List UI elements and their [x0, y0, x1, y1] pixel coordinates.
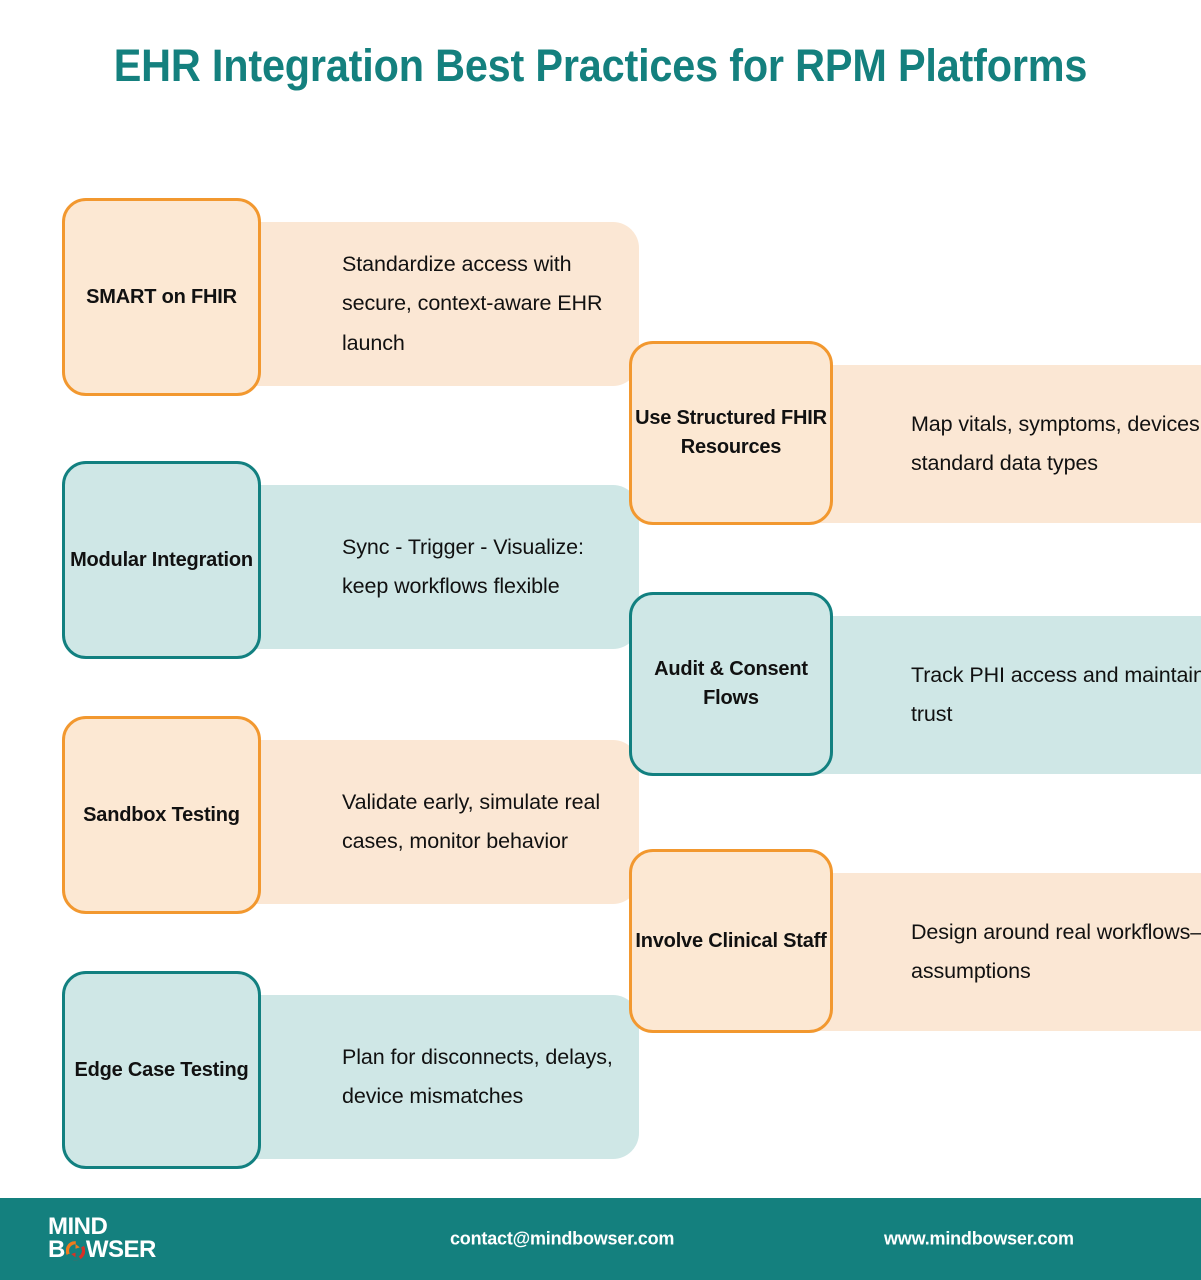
- card-description: Track PHI access and maintain user trust: [911, 656, 1201, 734]
- mindbowser-swirl-icon: [66, 1241, 85, 1260]
- card-label[interactable]: Audit & Consent Flows: [629, 592, 833, 776]
- card-label[interactable]: Use Structured FHIR Resources: [629, 341, 833, 525]
- card-label-text: Modular Integration: [70, 546, 253, 575]
- card-description: Map vitals, symptoms, devices to standar…: [911, 405, 1201, 483]
- card-description: Sync - Trigger - Visualize: keep workflo…: [342, 528, 617, 606]
- card-label[interactable]: Edge Case Testing: [62, 971, 261, 1169]
- logo-line-2: B WSER: [48, 1239, 156, 1262]
- card-label[interactable]: SMART on FHIR: [62, 198, 261, 396]
- card-label[interactable]: Sandbox Testing: [62, 716, 261, 914]
- cards-container: Standardize access with secure, context-…: [0, 0, 1201, 1190]
- card-label-text: Sandbox Testing: [83, 801, 240, 830]
- card-description: Standardize access with secure, context-…: [342, 245, 617, 362]
- logo-text-b: B: [48, 1239, 65, 1262]
- card-description: Validate early, simulate real cases, mon…: [342, 783, 617, 861]
- card-label-text: Audit & Consent Flows: [632, 655, 830, 713]
- footer-bar: MIND B WSER contact@mindbowser.com www.m…: [0, 1198, 1201, 1280]
- mindbowser-logo[interactable]: MIND B WSER: [48, 1216, 156, 1262]
- card-label[interactable]: Modular Integration: [62, 461, 261, 659]
- footer-email[interactable]: contact@mindbowser.com: [450, 1229, 674, 1250]
- logo-text-wser: WSER: [86, 1239, 156, 1262]
- card-label-text: Use Structured FHIR Resources: [632, 404, 830, 462]
- footer-website[interactable]: www.mindbowser.com: [884, 1229, 1074, 1250]
- infographic-page: EHR Integration Best Practices for RPM P…: [0, 0, 1201, 1280]
- card-label[interactable]: Involve Clinical Staff: [629, 849, 833, 1033]
- card-description: Plan for disconnects, delays, device mis…: [342, 1038, 617, 1116]
- card-description: Design around real workflows—not assumpt…: [911, 913, 1201, 991]
- card-label-text: Edge Case Testing: [74, 1056, 248, 1085]
- card-label-text: SMART on FHIR: [86, 283, 237, 312]
- card-label-text: Involve Clinical Staff: [635, 927, 826, 956]
